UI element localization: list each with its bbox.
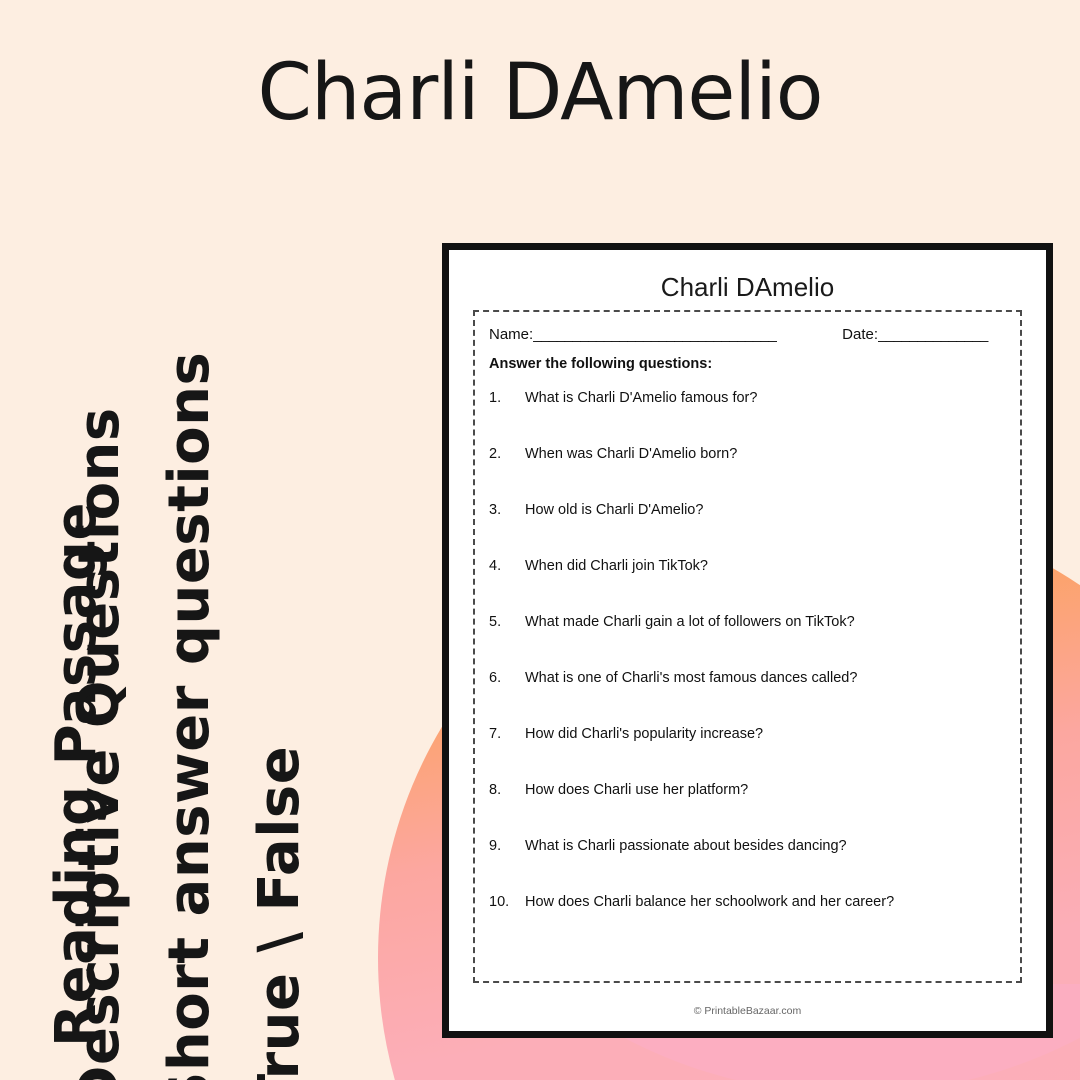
question-item: 6. What is one of Charli's most famous d… xyxy=(489,670,1006,726)
category-label-short-answer-questions: Short answer questions xyxy=(157,352,222,1080)
question-item: 2. When was Charli D'Amelio born? xyxy=(489,446,1006,502)
question-text: What made Charli gain a lot of followers… xyxy=(525,614,1006,631)
worksheet-dashed-content-box: Name: _______________________________ Da… xyxy=(473,310,1022,983)
question-text: What is Charli D'Amelio famous for? xyxy=(525,390,1006,407)
question-item: 3. How old is Charli D'Amelio? xyxy=(489,502,1006,558)
question-list: 1. What is Charli D'Amelio famous for? 2… xyxy=(485,390,1010,950)
question-item: 7. How did Charli's popularity increase? xyxy=(489,726,1006,782)
question-number: 1. xyxy=(489,390,525,407)
date-label: Date: xyxy=(842,326,878,343)
question-number: 4. xyxy=(489,558,525,575)
question-text: How did Charli's popularity increase? xyxy=(525,726,1006,743)
question-number: 7. xyxy=(489,726,525,743)
question-item: 10. How does Charli balance her schoolwo… xyxy=(489,894,1006,950)
name-date-row: Name: _______________________________ Da… xyxy=(485,326,1010,343)
worksheet-footer-credit: © PrintableBazaar.com xyxy=(449,1005,1046,1017)
question-text: When did Charli join TikTok? xyxy=(525,558,1006,575)
question-number: 2. xyxy=(489,446,525,463)
question-number: 10. xyxy=(489,894,525,911)
page-title: Charli DAmelio xyxy=(0,48,1080,138)
question-number: 8. xyxy=(489,782,525,799)
date-input-line[interactable]: ______________ xyxy=(878,326,1006,343)
question-text: When was Charli D'Amelio born? xyxy=(525,446,1006,463)
question-number: 9. xyxy=(489,838,525,855)
question-text: How does Charli use her platform? xyxy=(525,782,1006,799)
question-item: 5. What made Charli gain a lot of follow… xyxy=(489,614,1006,670)
question-item: 1. What is Charli D'Amelio famous for? xyxy=(489,390,1006,446)
category-label-true-false: True \ False xyxy=(247,746,312,1080)
question-text: What is one of Charli's most famous danc… xyxy=(525,670,1006,687)
question-text: What is Charli passionate about besides … xyxy=(525,838,1006,855)
worksheet-title: Charli DAmelio xyxy=(449,272,1046,303)
question-item: 4. When did Charli join TikTok? xyxy=(489,558,1006,614)
question-text: How old is Charli D'Amelio? xyxy=(525,502,1006,519)
worksheet-page: Charli DAmelio Name: ___________________… xyxy=(442,243,1053,1038)
question-number: 6. xyxy=(489,670,525,687)
question-text: How does Charli balance her schoolwork a… xyxy=(525,894,1006,911)
question-item: 8. How does Charli use her platform? xyxy=(489,782,1006,838)
question-number: 5. xyxy=(489,614,525,631)
question-number: 3. xyxy=(489,502,525,519)
instruction-text: Answer the following questions: xyxy=(485,356,1010,372)
name-input-line[interactable]: _______________________________ xyxy=(533,326,785,343)
category-label-descriptive-questions: Descriptive Questions xyxy=(67,407,132,1080)
question-item: 9. What is Charli passionate about besid… xyxy=(489,838,1006,894)
name-label: Name: xyxy=(489,326,533,343)
